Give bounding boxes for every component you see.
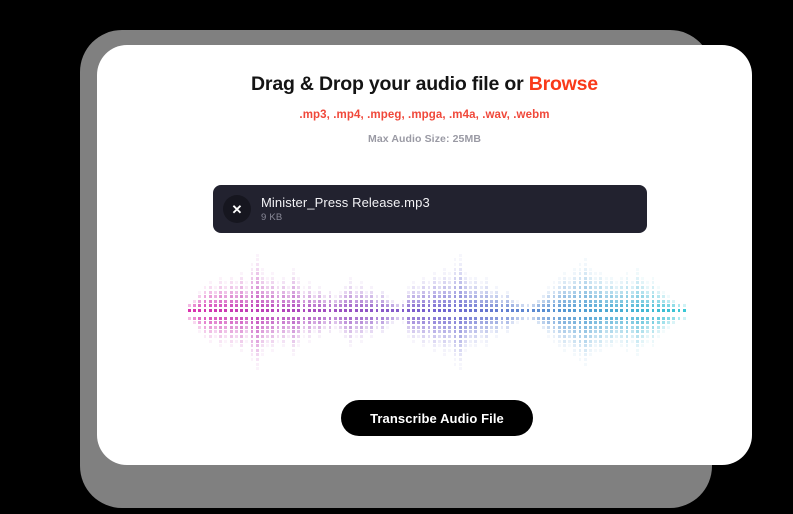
upload-card: Drag & Drop your audio file or Browse .m… xyxy=(97,45,752,465)
close-icon[interactable]: ✕ xyxy=(223,195,251,223)
file-meta: Minister_Press Release.mp3 9 KB xyxy=(261,195,430,223)
waveform-bar xyxy=(631,252,634,372)
waveform-bar xyxy=(329,252,332,372)
waveform-bar xyxy=(407,252,410,372)
audio-waveform[interactable] xyxy=(188,252,688,372)
waveform-bar xyxy=(391,252,394,372)
waveform-bar xyxy=(511,252,514,372)
waveform-bar xyxy=(370,252,373,372)
waveform-bar xyxy=(636,252,639,372)
waveform-bar xyxy=(349,252,352,372)
selected-file-card: ✕ Minister_Press Release.mp3 9 KB xyxy=(213,185,647,233)
waveform-bar xyxy=(563,252,566,372)
waveform-bar xyxy=(589,252,592,372)
waveform-bar xyxy=(402,252,405,372)
waveform-bar xyxy=(594,252,597,372)
waveform-bar xyxy=(381,252,384,372)
waveform-bar xyxy=(376,252,379,372)
waveform-bar xyxy=(318,252,321,372)
waveform-bar xyxy=(537,252,540,372)
waveform-bar xyxy=(573,252,576,372)
waveform-bar xyxy=(214,252,217,372)
waveform-bar xyxy=(667,252,670,372)
waveform-bar xyxy=(334,252,337,372)
transcribe-button[interactable]: Transcribe Audio File xyxy=(341,400,533,436)
waveform-bar xyxy=(662,252,665,372)
waveform-bar xyxy=(256,252,259,372)
waveform-bar xyxy=(240,252,243,372)
waveform-bar xyxy=(506,252,509,372)
waveform-bar xyxy=(490,252,493,372)
waveform-bar xyxy=(615,252,618,372)
waveform-bar xyxy=(266,252,269,372)
waveform-bar xyxy=(271,252,274,372)
waveform-bar xyxy=(521,252,524,372)
supported-formats: .mp3, .mp4, .mpeg, .mpga, .m4a, .wav, .w… xyxy=(97,109,752,121)
waveform-bar xyxy=(251,252,254,372)
waveform-bar xyxy=(464,252,467,372)
waveform-bar xyxy=(579,252,582,372)
waveform-bar xyxy=(235,252,238,372)
waveform-bar xyxy=(339,252,342,372)
file-size: 9 KB xyxy=(261,212,430,223)
waveform-bar xyxy=(626,252,629,372)
screen: Drag & Drop your audio file or Browse .m… xyxy=(0,0,793,514)
waveform-bar xyxy=(480,252,483,372)
waveform-bar xyxy=(297,252,300,372)
waveform-bar xyxy=(678,252,681,372)
waveform-bar xyxy=(443,252,446,372)
waveform-bar xyxy=(261,252,264,372)
waveform-bar xyxy=(303,252,306,372)
waveform-bar xyxy=(428,252,431,372)
waveform-bar xyxy=(652,252,655,372)
waveform-bar xyxy=(516,252,519,372)
waveform-bar xyxy=(422,252,425,372)
waveform-bar xyxy=(485,252,488,372)
waveform-bar xyxy=(532,252,535,372)
waveform-bar xyxy=(558,252,561,372)
waveform-bar xyxy=(553,252,556,372)
waveform-bar xyxy=(355,252,358,372)
waveform-bar xyxy=(277,252,280,372)
waveform-bar xyxy=(230,252,233,372)
waveform-bar xyxy=(454,252,457,372)
waveform-bar xyxy=(396,252,399,372)
max-size-note: Max Audio Size: 25MB xyxy=(97,133,752,145)
waveform-bar xyxy=(313,252,316,372)
waveform-bar xyxy=(683,252,686,372)
waveform-bar xyxy=(245,252,248,372)
waveform-bar xyxy=(360,252,363,372)
waveform-bar xyxy=(344,252,347,372)
waveform-bar xyxy=(584,252,587,372)
waveform-bar xyxy=(474,252,477,372)
waveform-bar xyxy=(620,252,623,372)
waveform-bar xyxy=(282,252,285,372)
waveform-bar xyxy=(448,252,451,372)
waveform-bar xyxy=(292,252,295,372)
waveform-bar xyxy=(646,252,649,372)
waveform-bar xyxy=(501,252,504,372)
waveform-bar xyxy=(599,252,602,372)
waveform-bar xyxy=(193,252,196,372)
waveform-bar xyxy=(224,252,227,372)
file-name: Minister_Press Release.mp3 xyxy=(261,195,430,210)
waveform-bar xyxy=(417,252,420,372)
waveform-bar xyxy=(459,252,462,372)
waveform-bar xyxy=(287,252,290,372)
waveform-bar xyxy=(365,252,368,372)
waveform-bar xyxy=(568,252,571,372)
waveform-bar xyxy=(308,252,311,372)
waveform-bar xyxy=(542,252,545,372)
waveform-bar xyxy=(495,252,498,372)
waveform-bar xyxy=(219,252,222,372)
waveform-bar xyxy=(469,252,472,372)
waveform-bar xyxy=(204,252,207,372)
waveform-bar xyxy=(386,252,389,372)
waveform-bar xyxy=(605,252,608,372)
waveform-bar xyxy=(547,252,550,372)
waveform-bar xyxy=(412,252,415,372)
waveform-bar xyxy=(209,252,212,372)
waveform-bar xyxy=(323,252,326,372)
browse-link[interactable]: Browse xyxy=(529,73,598,95)
waveform-bar xyxy=(641,252,644,372)
waveform-bar xyxy=(188,252,191,372)
page-title-text: Drag & Drop your audio file or xyxy=(251,73,529,95)
waveform-bar xyxy=(672,252,675,372)
waveform-bar xyxy=(433,252,436,372)
waveform-bar xyxy=(527,252,530,372)
waveform-bar xyxy=(438,252,441,372)
waveform-bar xyxy=(657,252,660,372)
waveform-bar xyxy=(198,252,201,372)
page-title: Drag & Drop your audio file or Browse xyxy=(97,73,752,96)
waveform-bar xyxy=(610,252,613,372)
